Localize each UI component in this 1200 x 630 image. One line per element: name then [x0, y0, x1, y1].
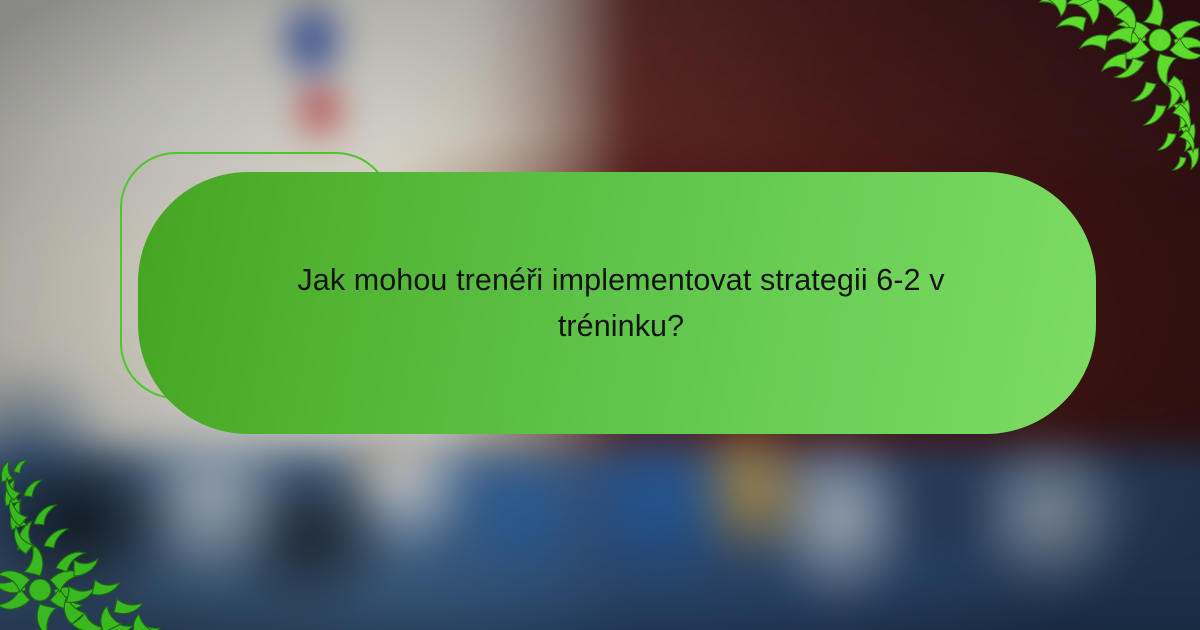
- headline-text: Jak mohou trenéři implementovat strategi…: [238, 257, 1004, 350]
- headline-card: Jak mohou trenéři implementovat strategi…: [138, 172, 1096, 434]
- quote-card-canvas: Jak mohou trenéři implementovat strategi…: [0, 0, 1200, 630]
